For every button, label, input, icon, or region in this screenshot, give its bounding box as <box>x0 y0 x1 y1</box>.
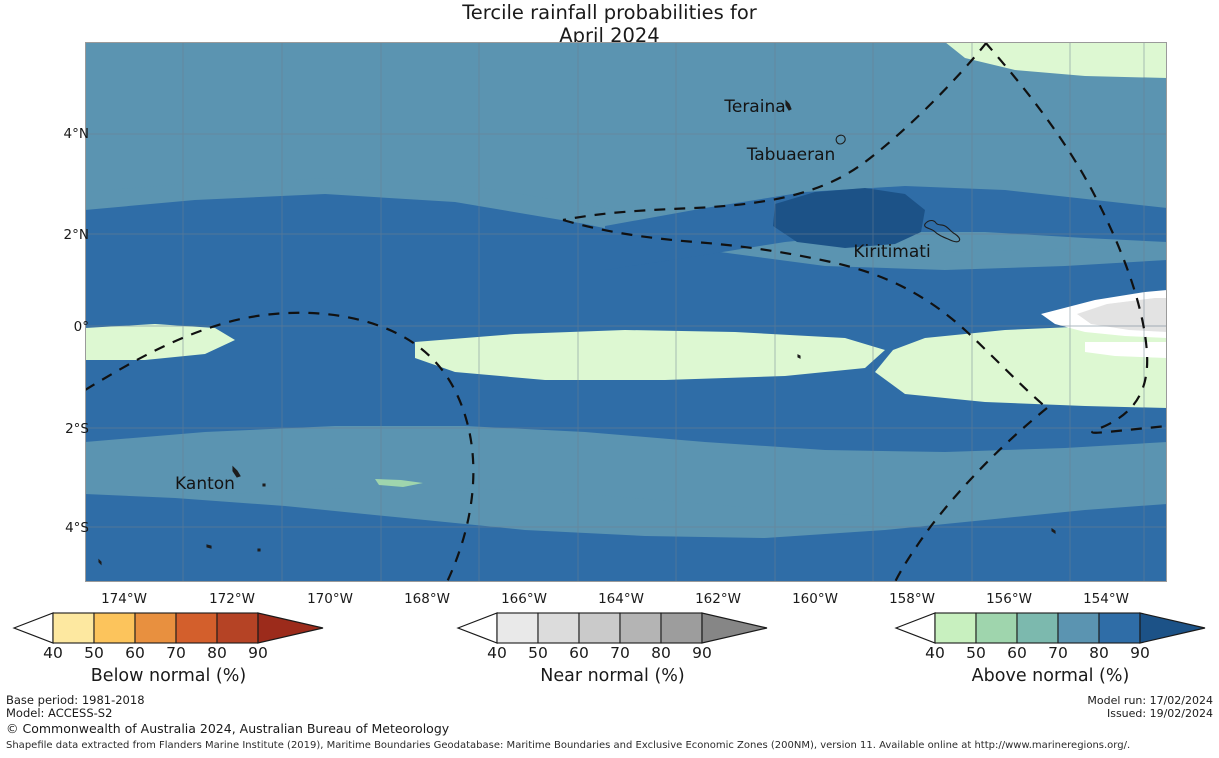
title-line-1: Tercile rainfall probabilities for <box>462 1 757 24</box>
colorbar-near-swatch-70-80 <box>620 613 661 643</box>
colorbar-near-tick-90: 90 <box>677 644 727 662</box>
colorbar-below-normal-swatches <box>6 612 331 644</box>
colorbar-above-under-arrow <box>896 613 935 643</box>
colorbar-below-swatch-40-50 <box>53 613 94 643</box>
footer-model: Model: ACCESS-S2 <box>6 707 112 720</box>
colorbar-below-under-arrow <box>14 613 53 643</box>
x-tick-174w: 174°W <box>79 591 169 607</box>
colorbar-above-swatch-70-80 <box>1058 613 1099 643</box>
y-tick-2n: 2°N <box>29 227 89 243</box>
colorbar-near-swatch-60-70 <box>579 613 620 643</box>
band-40-50-mid <box>415 330 885 380</box>
x-tick-168w: 168°W <box>382 591 472 607</box>
colorbar-near-swatch-40-50 <box>497 613 538 643</box>
colorbar-below-caption: Below normal (%) <box>6 666 331 686</box>
footer-model-run: Model run: 17/02/2024 <box>1087 694 1213 707</box>
place-label-kiritimati: Kiritimati <box>853 242 930 262</box>
island-small-6 <box>798 355 800 358</box>
footer-shapefile-attribution: Shapefile data extracted from Flanders M… <box>6 740 1130 751</box>
x-tick-156w: 156°W <box>964 591 1054 607</box>
colorbar-below-over-arrow <box>258 613 323 643</box>
contour-bands <box>85 42 1167 582</box>
colorbar-below-swatch-70-80 <box>176 613 217 643</box>
x-tick-170w: 170°W <box>285 591 375 607</box>
colorbar-above-swatch-50-60 <box>976 613 1017 643</box>
colorbar-near-over-arrow <box>702 613 767 643</box>
colorbar-below-swatch-50-60 <box>94 613 135 643</box>
map-plot-area <box>85 42 1167 582</box>
colorbar-near-swatch-80-90 <box>661 613 702 643</box>
y-tick-2s: 2°S <box>29 421 89 437</box>
tercile-rainfall-map-page: Tercile rainfall probabilities for April… <box>0 0 1219 758</box>
colorbar-near-normal-swatches <box>450 612 775 644</box>
place-label-tabuaeran: Tabuaeran <box>747 145 836 165</box>
x-tick-164w: 164°W <box>576 591 666 607</box>
colorbar-near-under-arrow <box>458 613 497 643</box>
colorbar-below-swatch-80-90 <box>217 613 258 643</box>
island-small-3 <box>258 549 260 551</box>
colorbar-near-normal: 40 50 60 70 80 90 Near normal (%) <box>450 612 775 663</box>
footer-issued: Issued: 19/02/2024 <box>1107 707 1213 720</box>
contour-map <box>85 42 1167 582</box>
x-tick-166w: 166°W <box>479 591 569 607</box>
colorbar-below-tick-90: 90 <box>233 644 283 662</box>
colorbar-above-over-arrow <box>1140 613 1205 643</box>
place-label-kanton: Kanton <box>175 474 235 494</box>
colorbar-above-swatch-40-50 <box>935 613 976 643</box>
island-small-2 <box>207 545 211 548</box>
colorbar-above-normal: 40 50 60 70 80 90 Above normal (%) <box>888 612 1213 663</box>
colorbar-near-caption: Near normal (%) <box>450 666 775 686</box>
y-tick-0: 0° <box>29 319 89 335</box>
footer-copyright: © Commonwealth of Australia 2024, Austra… <box>6 721 449 736</box>
x-tick-154w: 154°W <box>1061 591 1151 607</box>
x-tick-172w: 172°W <box>187 591 277 607</box>
colorbar-below-swatch-60-70 <box>135 613 176 643</box>
x-tick-162w: 162°W <box>673 591 763 607</box>
place-label-teraina: Teraina <box>724 97 785 117</box>
colorbar-near-swatch-50-60 <box>538 613 579 643</box>
colorbar-above-normal-swatches <box>888 612 1213 644</box>
colorbar-above-swatch-60-70 <box>1017 613 1058 643</box>
island-small-1 <box>263 484 265 486</box>
colorbar-above-swatch-80-90 <box>1099 613 1140 643</box>
colorbar-below-normal: 40 50 60 70 80 90 Below normal (%) <box>6 612 331 663</box>
colorbar-above-caption: Above normal (%) <box>888 666 1213 686</box>
y-tick-4s: 4°S <box>29 520 89 536</box>
colorbar-above-tick-90: 90 <box>1115 644 1165 662</box>
y-tick-4n: 4°N <box>29 126 89 142</box>
x-tick-160w: 160°W <box>770 591 860 607</box>
x-tick-158w: 158°W <box>867 591 957 607</box>
page-title: Tercile rainfall probabilities for April… <box>0 1 1219 47</box>
